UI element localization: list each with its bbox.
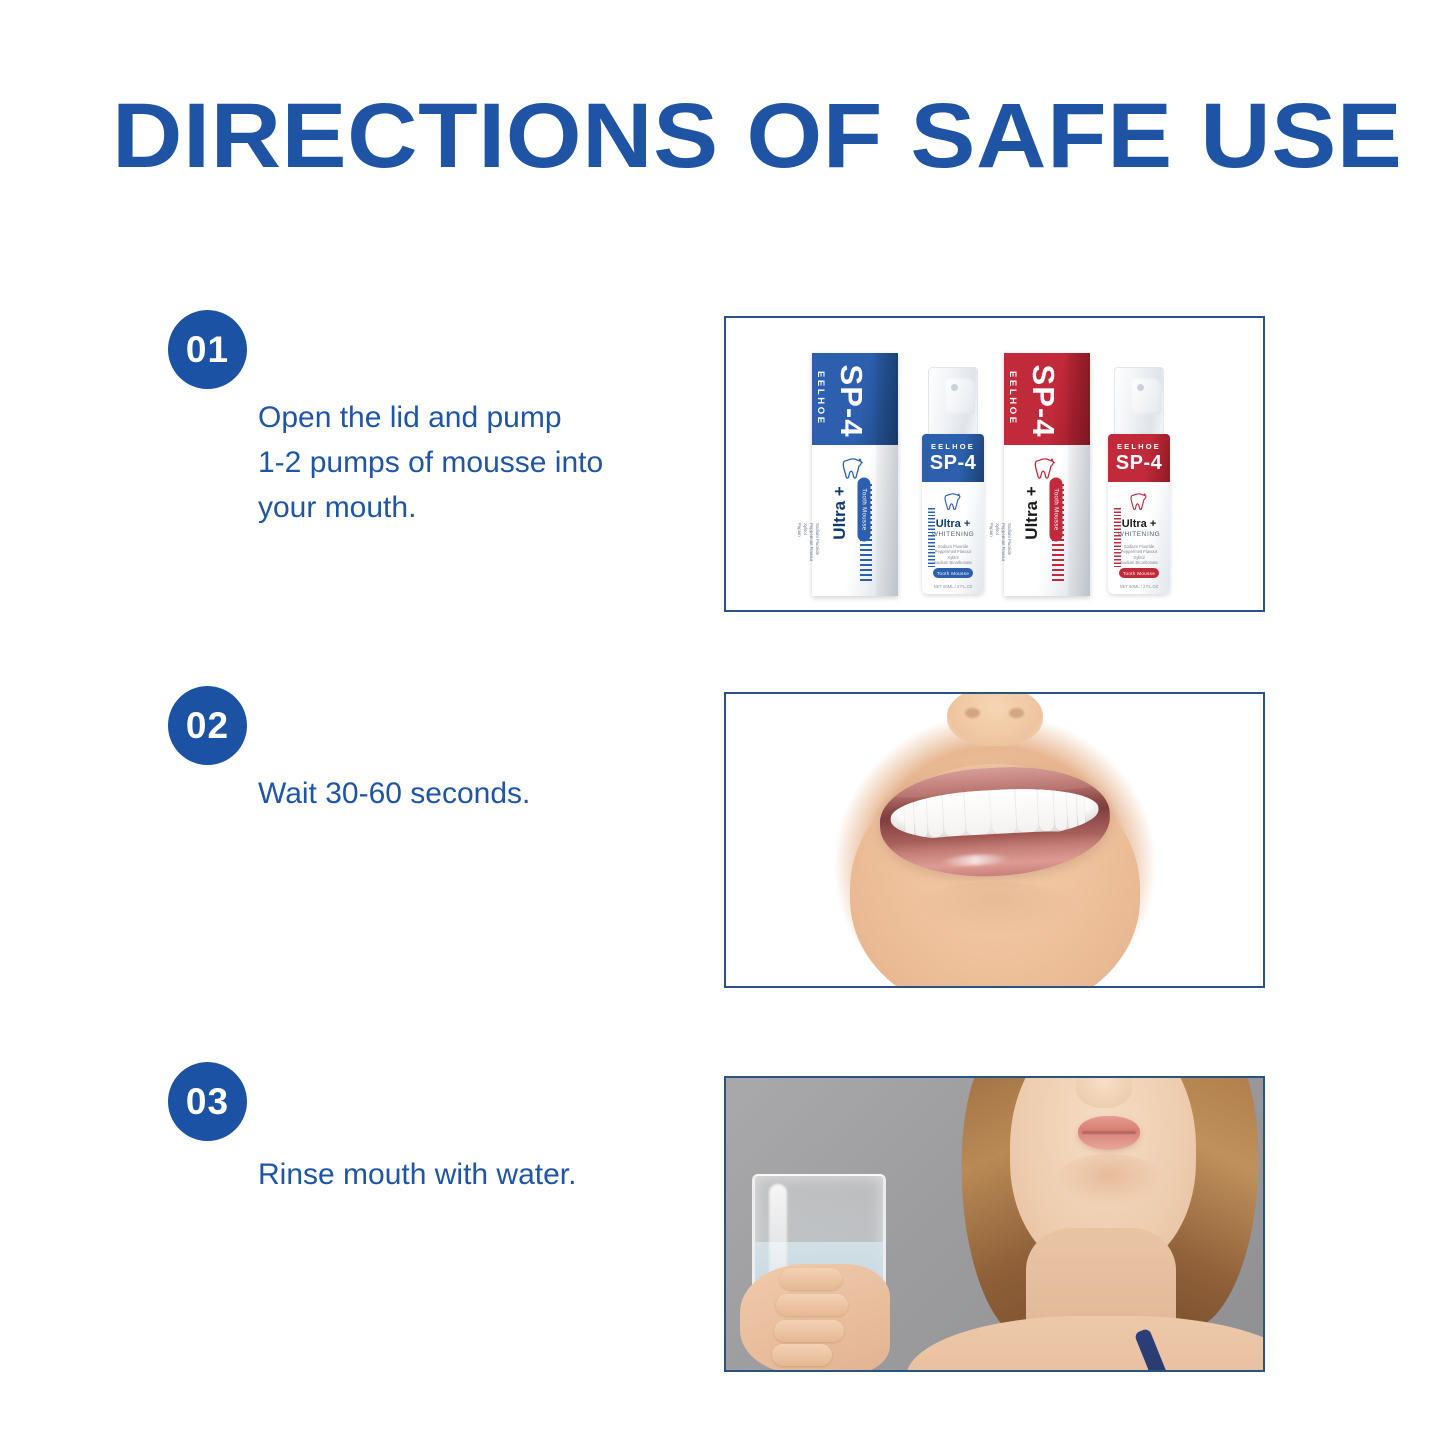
carton-badge-pill: Tooth Mousse xyxy=(1050,478,1063,542)
rinse-photo xyxy=(726,1078,1263,1370)
bottle-model-label: SP-4 xyxy=(1116,452,1162,475)
step-badge-03: 03 xyxy=(168,1062,247,1141)
shoulder-shape xyxy=(906,1316,1263,1370)
ingredient: Papain xyxy=(797,523,802,537)
bottle-brand-label: EELHOE xyxy=(1117,442,1161,451)
ingredient: Xylitol xyxy=(1133,555,1144,560)
pump-nozzle xyxy=(945,378,975,414)
ingredient: Sodium Fluoride xyxy=(1124,544,1155,549)
ingredient: Peppermint Flavour xyxy=(935,549,972,554)
pump-nozzle xyxy=(1131,378,1161,414)
nostril-right xyxy=(1009,708,1024,718)
step-description-02: Wait 30-60 seconds. xyxy=(258,771,688,816)
carton-ingredients: Sodium Fluoride Peppermint Flavour Xylit… xyxy=(988,523,1012,577)
carton-brand-label: EELHOE xyxy=(815,371,826,426)
carton-model-label: SP-4 xyxy=(1025,326,1061,476)
ingredient: Peppermint Flavour xyxy=(1121,549,1158,554)
chin-shading xyxy=(910,882,1080,936)
tooth xyxy=(964,790,990,835)
product-carton-red: SP-4 EELHOE Ultra + Tooth Mousse Sodium … xyxy=(1004,353,1090,596)
ingredient: Papain xyxy=(989,523,994,537)
mouth-shape xyxy=(877,762,1112,882)
bottle-net-weight: NET 60ML / 2 FL.OZ xyxy=(1108,584,1170,589)
tooth xyxy=(1037,787,1054,832)
step-image-panel-03 xyxy=(724,1076,1265,1372)
bottle-ingredients: Sodium Fluoride Peppermint Flavour Xylit… xyxy=(1108,544,1170,566)
bottle-variant-label: Ultra + xyxy=(922,518,984,530)
bottle-ingredients: Sodium Fluoride Peppermint Flavour Xylit… xyxy=(922,544,984,566)
finger xyxy=(780,1268,842,1290)
ingredient: Xylitol xyxy=(803,523,808,535)
tooth xyxy=(989,789,1015,834)
bottle-subtitle: WHITENING xyxy=(922,531,984,538)
ingredient: Sodium Bicarbonate xyxy=(934,560,972,565)
bottle-brand-label: EELHOE xyxy=(931,442,975,451)
step-line: your mouth. xyxy=(258,485,688,530)
step-line: Rinse mouth with water. xyxy=(258,1152,688,1197)
ingredient: Peppermint Flavour xyxy=(809,523,814,561)
pump-button xyxy=(1137,384,1144,391)
product-bottle-red: EELHOE SP-4 Ultra + WHITENING Sodium Flu… xyxy=(1108,367,1170,594)
carton-variant-label: Ultra + xyxy=(1022,473,1042,553)
step-badge-01: 01 xyxy=(168,310,247,389)
carton-brand-label: EELHOE xyxy=(1007,371,1018,426)
step-line: Wait 30-60 seconds. xyxy=(258,771,688,816)
bottle-label-band: EELHOE SP-4 xyxy=(922,434,984,482)
finger xyxy=(776,1294,848,1316)
ingredient: Xylitol xyxy=(995,523,1000,535)
cheek-shading xyxy=(1056,1154,1162,1206)
ingredient: Sodium Fluoride xyxy=(815,523,820,555)
carton-ingredients: Sodium Fluoride Peppermint Flavour Xylit… xyxy=(796,523,820,577)
bottle-model-label: SP-4 xyxy=(930,452,976,475)
tooth xyxy=(1066,786,1077,830)
nostril-left xyxy=(965,708,980,718)
tooth xyxy=(1053,786,1067,831)
step-image-panel-01: SP-4 EELHOE Ultra + Tooth Mousse Sodium … xyxy=(724,316,1265,612)
step-description-03: Rinse mouth with water. xyxy=(258,1152,688,1197)
product-carton-blue: SP-4 EELHOE Ultra + Tooth Mousse Sodium … xyxy=(812,353,898,596)
step-badge-02: 02 xyxy=(168,686,247,765)
tooth xyxy=(942,792,965,837)
finger xyxy=(772,1344,832,1366)
step-description-01: Open the lid and pump 1-2 pumps of mouss… xyxy=(258,395,688,530)
ingredient: Sodium Fluoride xyxy=(938,544,969,549)
bottle-body: EELHOE SP-4 Ultra + WHITENING Sodium Flu… xyxy=(922,434,984,594)
tooth-icon xyxy=(1130,492,1148,512)
finger xyxy=(774,1320,844,1342)
step-line: 1-2 pumps of mousse into xyxy=(258,440,688,485)
step-image-panel-02 xyxy=(724,692,1265,988)
bottle-net-weight: NET 60ML / 2 FL.OZ xyxy=(922,584,984,589)
smile-photo xyxy=(726,694,1263,986)
bottle-badge-pill: Tooth Mousse xyxy=(933,568,973,578)
pump-button xyxy=(951,384,958,391)
bottle-badge-pill: Tooth Mousse xyxy=(1119,568,1159,578)
tooth xyxy=(1014,788,1037,833)
pump-cap xyxy=(928,367,978,441)
tooth xyxy=(913,794,927,839)
ingredient: Peppermint Flavour xyxy=(1001,523,1006,561)
tooth xyxy=(903,794,914,838)
step-line: Open the lid and pump xyxy=(258,395,688,440)
carton-side-face xyxy=(876,353,898,596)
tooth xyxy=(926,793,943,838)
face-shape xyxy=(795,694,1195,986)
bottle-variant-label: Ultra + xyxy=(1108,518,1170,530)
carton-variant-label: Ultra + xyxy=(830,473,850,553)
product-bottle-blue: EELHOE SP-4 Ultra + WHITENING Sodium Flu… xyxy=(922,367,984,594)
carton-badge-pill: Tooth Mousse xyxy=(858,478,871,542)
page-title: DIRECTIONS OF SAFE USE xyxy=(112,88,1416,184)
carton-model-label: SP-4 xyxy=(833,326,869,476)
carton-side-face xyxy=(1068,353,1090,596)
bottle-subtitle: WHITENING xyxy=(1108,531,1170,538)
pump-cap xyxy=(1114,367,1164,441)
bottle-label-band: EELHOE SP-4 xyxy=(1108,434,1170,482)
tooth-icon xyxy=(944,492,962,512)
tooth xyxy=(1076,785,1085,829)
ingredient: Sodium Bicarbonate xyxy=(1120,560,1158,565)
nose-shape xyxy=(947,694,1043,746)
bottle-body: EELHOE SP-4 Ultra + WHITENING Sodium Flu… xyxy=(1108,434,1170,594)
ingredient: Sodium Fluoride xyxy=(1007,523,1012,555)
lip-line xyxy=(1082,1131,1136,1134)
product-photo: SP-4 EELHOE Ultra + Tooth Mousse Sodium … xyxy=(726,318,1263,610)
ingredient: Xylitol xyxy=(947,555,958,560)
